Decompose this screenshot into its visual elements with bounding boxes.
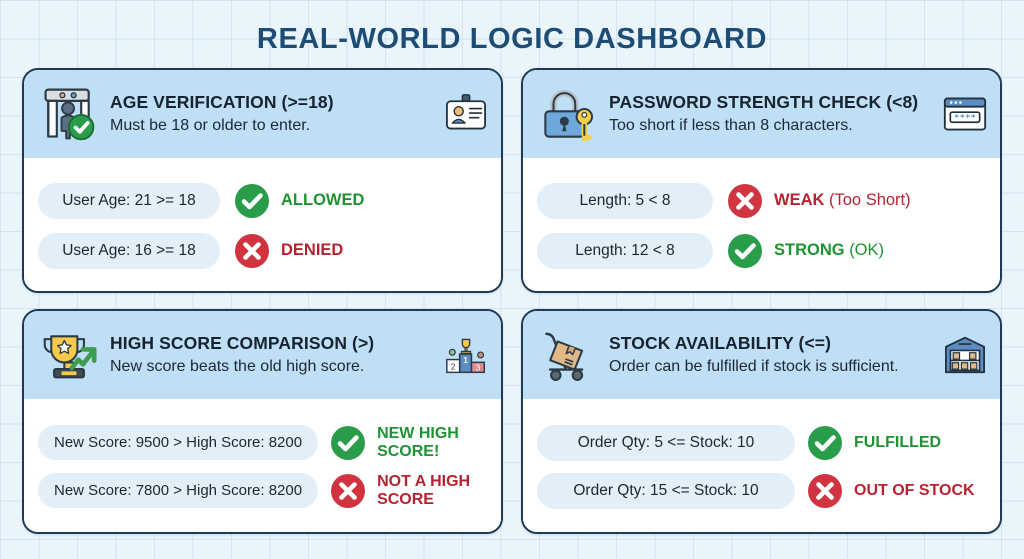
- verdict-label: NEW HIGH SCORE!: [377, 425, 487, 461]
- expression-text: Length: 5 < 8: [537, 183, 713, 219]
- logic-row: New Score: 7800 > High Score: 8200 NOT A…: [38, 473, 487, 509]
- check-circle-icon: [807, 425, 843, 461]
- svg-text:3: 3: [476, 364, 481, 373]
- verdict-label: WEAK (Too Short): [774, 191, 911, 210]
- logic-row: Order Qty: 5 <= Stock: 10 FULFILLED: [537, 425, 986, 461]
- padlock-key-icon: [537, 83, 599, 145]
- x-circle-icon: [330, 473, 366, 509]
- logic-row: Length: 12 < 8 STRONG (OK): [537, 233, 986, 269]
- card-header: HIGH SCORE COMPARISON (>) New score beat…: [24, 311, 501, 399]
- warehouse-icon: [942, 332, 988, 378]
- svg-text:****: ****: [954, 112, 976, 123]
- verdict-label: ALLOWED: [281, 191, 364, 210]
- verdict: OUT OF STOCK: [807, 473, 986, 509]
- card-title: STOCK AVAILABILITY (<=): [609, 333, 932, 354]
- card-title: HIGH SCORE COMPARISON (>): [110, 333, 433, 354]
- logic-row: Order Qty: 15 <= Stock: 10 OUT OF STOCK: [537, 473, 986, 509]
- card-high-score-comparison: HIGH SCORE COMPARISON (>) New score beat…: [22, 309, 503, 534]
- verdict-label-note: (OK): [849, 241, 884, 259]
- verdict: STRONG (OK): [727, 233, 986, 269]
- logic-row: User Age: 21 >= 18 ALLOWED: [38, 183, 487, 219]
- podium-icon: 1 2 3: [443, 332, 489, 378]
- expression-text: Order Qty: 15 <= Stock: 10: [537, 473, 795, 509]
- card-subtitle: Must be 18 or older to enter.: [110, 115, 433, 137]
- x-circle-icon: [807, 473, 843, 509]
- password-window-icon: ****: [942, 91, 988, 137]
- card-body: Length: 5 < 8 WEAK (Too Short) Length: 1…: [523, 158, 1000, 291]
- x-circle-icon: [727, 183, 763, 219]
- check-circle-icon: [234, 183, 270, 219]
- card-header-text: STOCK AVAILABILITY (<=) Order can be ful…: [609, 333, 932, 378]
- verdict-label: OUT OF STOCK: [854, 482, 975, 500]
- expression-text: New Score: 9500 > High Score: 8200: [38, 425, 318, 460]
- metal-detector-person-check-icon: [38, 83, 100, 145]
- verdict: NEW HIGH SCORE!: [330, 425, 487, 461]
- card-subtitle: Order can be fulfilled if stock is suffi…: [609, 356, 932, 378]
- card-header-text: AGE VERIFICATION (>=18) Must be 18 or ol…: [110, 92, 433, 137]
- card-header-text: HIGH SCORE COMPARISON (>) New score beat…: [110, 333, 433, 378]
- expression-text: User Age: 21 >= 18: [38, 183, 220, 219]
- card-header-text: PASSWORD STRENGTH CHECK (<8) Too short i…: [609, 92, 932, 137]
- card-body: New Score: 9500 > High Score: 8200 NEW H…: [24, 399, 501, 532]
- check-circle-icon: [727, 233, 763, 269]
- logic-row: Length: 5 < 8 WEAK (Too Short): [537, 183, 986, 219]
- verdict: NOT A HIGH SCORE: [330, 473, 487, 509]
- card-header: STOCK AVAILABILITY (<=) Order can be ful…: [523, 311, 1000, 399]
- verdict: ALLOWED: [234, 183, 487, 219]
- logic-row: New Score: 9500 > High Score: 8200 NEW H…: [38, 425, 487, 461]
- id-badge-icon: [443, 91, 489, 137]
- card-age-verification: AGE VERIFICATION (>=18) Must be 18 or ol…: [22, 68, 503, 293]
- verdict-label: DENIED: [281, 241, 343, 260]
- card-header: PASSWORD STRENGTH CHECK (<8) Too short i…: [523, 70, 1000, 158]
- trophy-growth-arrow-icon: [38, 324, 100, 386]
- expression-text: User Age: 16 >= 18: [38, 233, 220, 269]
- verdict-label-main: STRONG: [774, 241, 845, 259]
- verdict-label-main: WEAK: [774, 191, 824, 209]
- card-stock-availability: STOCK AVAILABILITY (<=) Order can be ful…: [521, 309, 1002, 534]
- verdict-label-note: (Too Short): [829, 191, 911, 209]
- verdict: FULFILLED: [807, 425, 986, 461]
- card-subtitle: New score beats the old high score.: [110, 356, 433, 378]
- verdict-label: NOT A HIGH SCORE: [377, 473, 487, 509]
- verdict-label: STRONG (OK): [774, 241, 884, 260]
- card-header: AGE VERIFICATION (>=18) Must be 18 or ol…: [24, 70, 501, 158]
- x-circle-icon: [234, 233, 270, 269]
- card-title: PASSWORD STRENGTH CHECK (<8): [609, 92, 932, 113]
- verdict-label: FULFILLED: [854, 434, 941, 452]
- cards-grid: AGE VERIFICATION (>=18) Must be 18 or ol…: [22, 68, 1002, 534]
- page-title: REAL-WORLD LOGIC DASHBOARD: [0, 0, 1024, 66]
- card-body: Order Qty: 5 <= Stock: 10 FULFILLED Orde…: [523, 399, 1000, 532]
- card-title: AGE VERIFICATION (>=18): [110, 92, 433, 113]
- expression-text: New Score: 7800 > High Score: 8200: [38, 473, 318, 508]
- card-subtitle: Too short if less than 8 characters.: [609, 115, 932, 137]
- logic-row: User Age: 16 >= 18 DENIED: [38, 233, 487, 269]
- svg-text:2: 2: [451, 363, 456, 372]
- card-body: User Age: 21 >= 18 ALLOWED User Age: 16 …: [24, 158, 501, 291]
- check-circle-icon: [330, 425, 366, 461]
- expression-text: Length: 12 < 8: [537, 233, 713, 269]
- verdict: WEAK (Too Short): [727, 183, 986, 219]
- hand-truck-box-icon: [537, 324, 599, 386]
- verdict: DENIED: [234, 233, 487, 269]
- expression-text: Order Qty: 5 <= Stock: 10: [537, 425, 795, 461]
- svg-text:1: 1: [463, 356, 468, 365]
- card-password-strength-check: PASSWORD STRENGTH CHECK (<8) Too short i…: [521, 68, 1002, 293]
